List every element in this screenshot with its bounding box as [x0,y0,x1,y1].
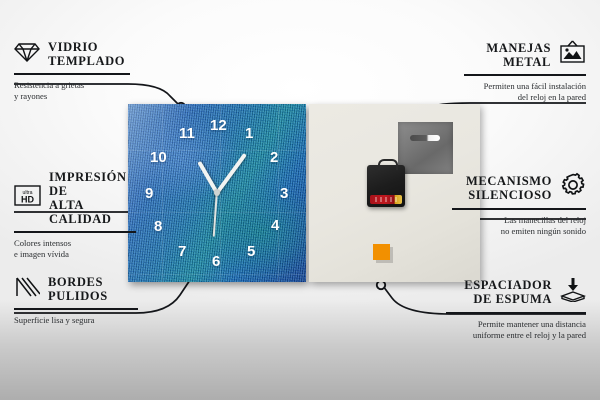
clock-numeral-8: 8 [154,219,162,234]
foam-spacer [373,244,390,260]
callout-desc-line1: Colores intensos [14,238,136,250]
callout-title-line2: ALTA CALIDAD [49,198,136,226]
callout-desc-line2: uniforme entre el reloj y la pared [446,330,586,342]
clock-numeral-11: 11 [179,126,195,141]
callout-desc-line2: y rayones [14,91,130,103]
callout-title-line2: PULIDOS [48,289,108,303]
battery [370,195,402,204]
callout-title-line1: BORDES [48,275,108,289]
clock-numeral-7: 7 [178,244,186,259]
marker-espaciador [377,281,385,289]
callout-desc-line2: del reloj en la pared [464,92,586,104]
diamond-icon [14,41,40,68]
callout-divider [446,312,586,314]
gear-icon [560,172,586,203]
callout-mecanismo-silencioso: MECANISMO SILENCIOSO Las manecillas del … [452,172,586,238]
foam-spacer-icon [560,277,586,307]
clock-center-pin [214,190,220,196]
callout-divider [14,231,136,233]
clock-front-face: 12 1 2 3 4 5 6 7 8 9 10 11 [128,104,306,282]
callout-divider [464,74,586,76]
polished-edges-icon [14,276,40,303]
callout-title-line1: ESPACIADOR [464,278,552,292]
clock-numeral-9: 9 [145,186,153,201]
clock-numeral-1: 1 [245,126,253,141]
metal-hanger-plate [398,122,453,174]
callout-vidrio-templado: VIDRIO TEMPLADO Resistencia a grietas y … [14,40,130,103]
clock-mechanism-box [367,165,405,207]
callout-divider [452,208,586,210]
callout-divider [14,308,138,310]
callout-title-line1: VIDRIO [48,40,125,54]
svg-text:HD: HD [21,195,34,205]
callout-desc-line1: Resistencia a grietas [14,80,130,92]
callout-manejas-metal: MANEJAS METAL Permiten una fácil instala… [464,40,586,104]
mechanism-hook [378,159,398,170]
callout-desc-line1: Las manecillas del reloj [452,215,586,227]
infographic-canvas: 12 1 2 3 4 5 6 7 8 9 10 11 [0,0,600,400]
clock-numeral-10: 10 [150,150,167,165]
callout-desc-line2: e imagen vívida [14,249,136,261]
callout-desc-line2: no emiten ningún sonido [452,226,586,238]
clock-numeral-3: 3 [280,186,288,201]
callout-title-line1: MANEJAS [486,41,551,55]
callout-desc-line1: Superficie lisa y segura [14,315,138,327]
clock-numeral-6: 6 [212,254,220,269]
ultra-hd-icon: ultra HD [14,184,41,212]
product-image: 12 1 2 3 4 5 6 7 8 9 10 11 [128,104,480,282]
callout-bordes-pulidos: BORDES PULIDOS Superficie lisa y segura [14,275,138,326]
callout-title-line1: IMPRESIÓN DE [49,170,136,198]
clock-numeral-2: 2 [270,150,278,165]
hanger-keyhole-slot [410,135,440,141]
callout-title-line2: SILENCIOSO [466,188,552,202]
callout-desc-line1: Permite mantener una distancia [446,319,586,331]
clock-numeral-4: 4 [271,218,279,233]
clock-numeral-12: 12 [210,118,227,133]
callout-title-line1: MECANISMO [466,174,552,188]
callout-divider [14,73,130,75]
wall-mount-picture-icon [559,40,586,69]
callout-title-line2: DE ESPUMA [464,292,552,306]
callout-espaciador-espuma: ESPACIADOR DE ESPUMA Permite mantener un… [446,277,586,342]
callout-title-line2: METAL [486,55,551,69]
callout-impresion-alta-calidad: ultra HD IMPRESIÓN DE ALTA CALIDAD Color… [14,170,136,261]
callout-desc-line1: Permiten una fácil instalación [464,81,586,93]
clock-numeral-5: 5 [247,244,255,259]
callout-title-line2: TEMPLADO [48,54,125,68]
